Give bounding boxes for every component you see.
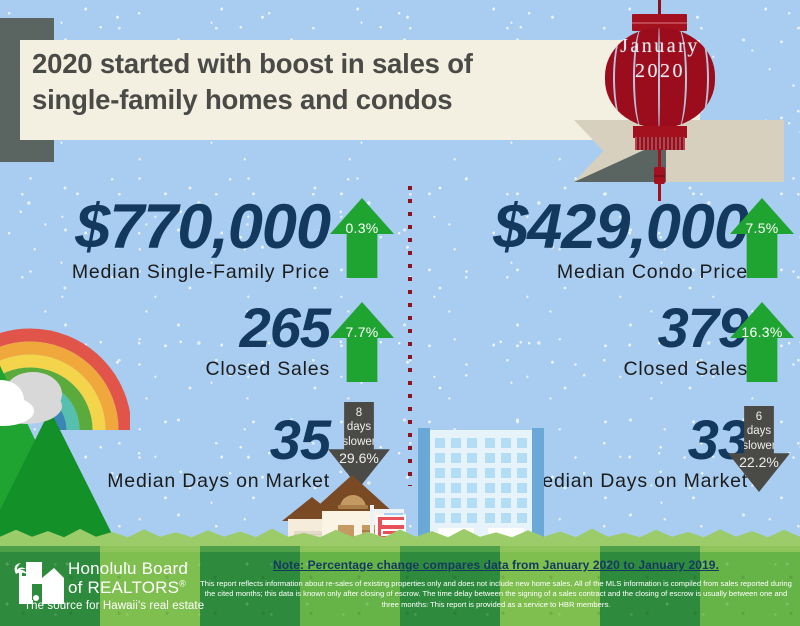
- lantern-body: [605, 28, 715, 128]
- page-title: 2020 started with boost in sales of sing…: [32, 46, 612, 118]
- logo-line-2: of REALTORS®: [68, 579, 200, 598]
- stat-value: $429,000: [430, 196, 748, 259]
- report-disclaimer: This report reflects information about r…: [196, 579, 796, 611]
- lantern-knot: [654, 167, 665, 184]
- footer-notes: Note: Percentage change compares data fr…: [196, 558, 796, 611]
- chinese-lantern-icon: January 2020: [600, 0, 720, 195]
- stat-value: $770,000: [20, 196, 330, 259]
- arrow-up-icon: 0.3%: [330, 198, 394, 278]
- stat-label: Closed Sales: [20, 358, 330, 381]
- days-count: 8: [328, 406, 390, 420]
- arrow-up-icon: 7.7%: [330, 302, 394, 382]
- stat-label: Median Single-Family Price: [20, 261, 330, 284]
- days-slower-note: 8 days slower: [328, 406, 390, 449]
- hbr-logo[interactable]: Honolulu Board of REALTORS® The source f…: [12, 560, 200, 618]
- hbr-logo-text: Honolulu Board of REALTORS® The source f…: [68, 560, 200, 597]
- slower-word: slower: [328, 435, 390, 449]
- condo-building-icon: [418, 420, 544, 548]
- change-percent: 7.7%: [330, 324, 394, 340]
- column-divider: [408, 186, 412, 486]
- stat-label: Median Condo Price: [430, 261, 748, 284]
- hbr-logo-mark-icon: [12, 562, 64, 604]
- stat-value: 35: [20, 412, 330, 468]
- infographic-canvas: 2020 started with boost in sales of sing…: [0, 0, 800, 626]
- stat-value: 265: [20, 300, 330, 356]
- stat-single-family-closed-sales: 265 Closed Sales: [20, 300, 330, 381]
- change-percent: 0.3%: [330, 220, 394, 236]
- page-title-line-1: 2020 started with boost in sales of: [32, 46, 612, 82]
- footer: Honolulu Board of REALTORS® The source f…: [0, 552, 800, 626]
- stat-value: 379: [430, 300, 748, 356]
- stat-condo-closed-sales: 379 Closed Sales: [430, 300, 748, 381]
- lantern-tassel: [658, 149, 661, 169]
- change-percent: 29.6%: [328, 450, 390, 466]
- logo-line-1: Honolulu Board: [68, 560, 200, 579]
- stat-label: Closed Sales: [430, 358, 748, 381]
- logo-tagline: The source for Hawaii's real estate: [24, 600, 210, 612]
- percentage-change-note: Note: Percentage change compares data fr…: [196, 558, 796, 574]
- stat-single-family-price: $770,000 Median Single-Family Price: [20, 196, 330, 284]
- page-title-line-2: single-family homes and condos: [32, 82, 612, 118]
- days-word: days: [328, 420, 390, 434]
- stat-condo-price: $429,000 Median Condo Price: [430, 196, 748, 284]
